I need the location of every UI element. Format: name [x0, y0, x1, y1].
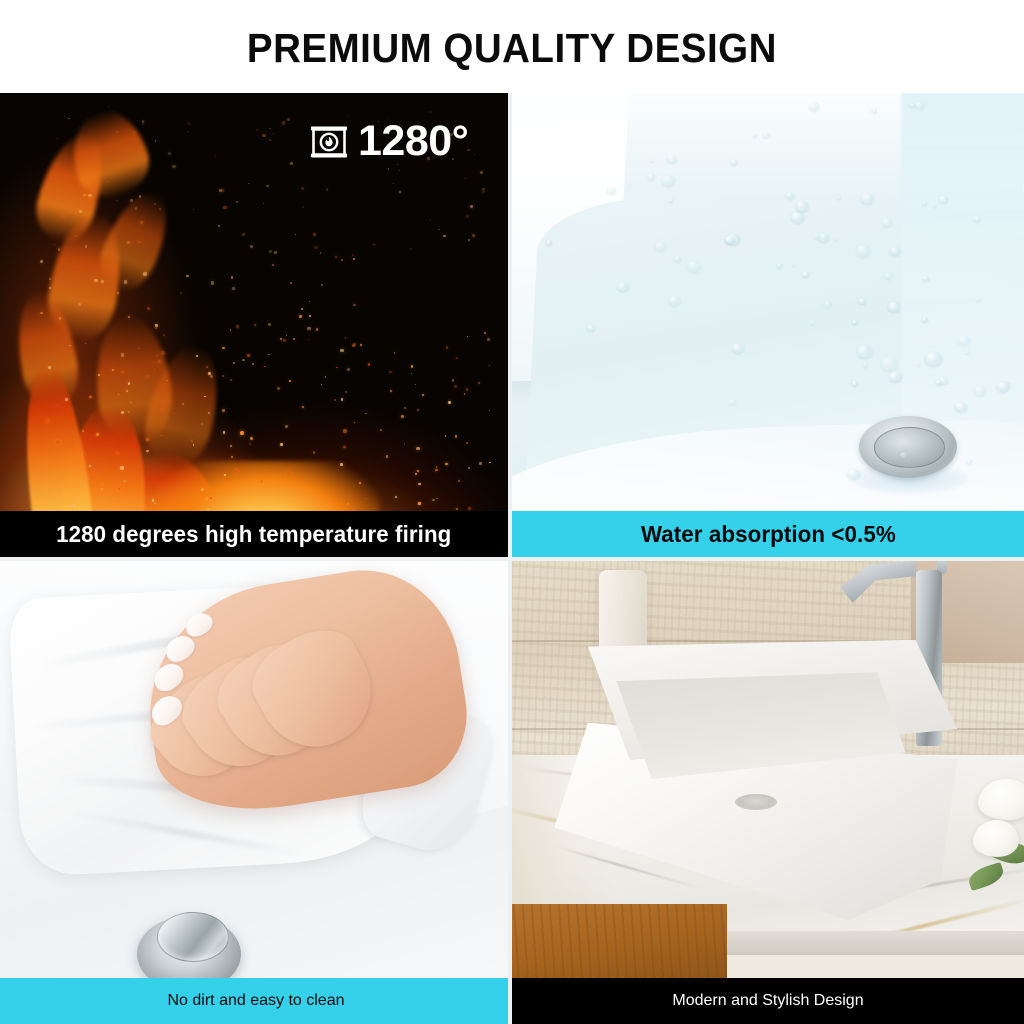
spark — [411, 365, 413, 367]
water-droplet — [753, 134, 757, 137]
caption-text-firing: 1280 degrees high temperature firing — [56, 521, 451, 548]
spark — [307, 327, 310, 330]
spark — [124, 480, 125, 481]
temperature-badge: 1280° — [309, 120, 468, 163]
water-droplet — [889, 371, 902, 382]
spark — [155, 324, 158, 327]
spark — [373, 244, 375, 246]
water-droplet — [810, 320, 815, 324]
spark — [85, 343, 86, 344]
spark — [268, 323, 271, 326]
water-droplet — [974, 386, 986, 395]
spark — [454, 385, 457, 388]
cleaning-photo — [0, 561, 508, 1024]
spark — [49, 278, 51, 280]
spark — [456, 357, 458, 359]
spark — [155, 327, 157, 329]
water-droplet — [966, 459, 972, 464]
caption-bar-clean: No dirt and easy to clean — [0, 978, 508, 1024]
spark — [101, 280, 104, 283]
vessel-sink — [538, 640, 958, 936]
spark — [468, 507, 471, 510]
spark — [56, 440, 59, 443]
spark — [231, 276, 233, 278]
water-droplet — [890, 247, 901, 256]
spark — [211, 281, 214, 284]
caption-bar-design: Modern and Stylish Design — [512, 978, 1024, 1024]
water-droplet — [667, 155, 677, 163]
spark — [172, 165, 175, 168]
spark — [321, 284, 323, 286]
caption-bar-absorption: Water absorption <0.5% — [512, 511, 1024, 557]
spark — [126, 390, 128, 392]
spark — [274, 251, 277, 254]
spark — [343, 429, 346, 432]
spark — [78, 303, 81, 306]
drain-stopper-cap — [157, 912, 229, 962]
spark — [146, 438, 149, 441]
spark — [159, 208, 161, 210]
water-droplet — [777, 263, 783, 268]
water-droplet — [725, 236, 735, 244]
spark — [272, 264, 274, 266]
spark — [58, 248, 60, 250]
spark — [345, 391, 347, 393]
spark — [263, 203, 264, 204]
spark — [380, 429, 382, 431]
spark — [48, 366, 51, 369]
water-droplet — [882, 218, 892, 227]
spark — [138, 348, 139, 349]
spark — [466, 442, 468, 444]
water-droplet — [835, 238, 838, 241]
spark — [188, 122, 190, 124]
spark — [68, 118, 70, 120]
spark — [302, 406, 304, 408]
caption-text-clean: No dirt and easy to clean — [168, 992, 345, 1010]
water-droplet — [587, 325, 594, 331]
spark — [313, 233, 316, 236]
spark — [41, 189, 44, 192]
spark — [273, 133, 274, 134]
spark — [302, 206, 304, 208]
spark — [83, 453, 86, 456]
spark — [61, 215, 65, 219]
spark — [386, 455, 388, 457]
spark — [57, 405, 58, 406]
spark — [138, 241, 140, 243]
spark — [128, 382, 131, 385]
kiln-furnace-icon — [309, 122, 349, 162]
spark — [127, 241, 130, 244]
spark — [121, 411, 124, 414]
spark — [336, 367, 337, 368]
spark — [290, 282, 292, 284]
spark — [75, 235, 77, 237]
water-basin-photo — [512, 93, 1024, 557]
spark — [266, 185, 268, 187]
spark — [240, 431, 244, 435]
spark — [79, 210, 82, 213]
spark — [186, 275, 188, 277]
spark — [466, 215, 468, 217]
spark — [191, 440, 193, 442]
product-infographic: PREMIUM QUALITY DESIGN — [0, 0, 1024, 1024]
chrome-drain — [859, 416, 957, 478]
spark — [205, 497, 208, 500]
spark — [49, 287, 50, 288]
spark — [94, 279, 98, 283]
spark — [417, 409, 418, 410]
spark — [40, 260, 43, 263]
white-flower — [973, 820, 1019, 857]
spark — [393, 183, 394, 184]
spark — [389, 371, 391, 373]
spark — [69, 345, 71, 347]
spark — [147, 307, 150, 310]
spark — [283, 339, 286, 342]
water-droplet — [922, 317, 928, 322]
spark — [285, 425, 288, 428]
spark — [210, 375, 213, 378]
spark — [235, 469, 238, 472]
panel-easy-to-clean: No dirt and easy to clean — [0, 561, 508, 1024]
spark — [161, 351, 165, 355]
spark — [154, 203, 156, 205]
water-droplet — [939, 196, 947, 203]
spark — [223, 431, 225, 433]
spark — [142, 120, 145, 123]
spark — [293, 338, 295, 340]
spark — [121, 371, 124, 374]
water-droplet — [922, 201, 927, 205]
spark — [316, 328, 318, 330]
spark — [445, 463, 448, 466]
water-droplet — [852, 381, 858, 386]
spark — [435, 469, 437, 471]
spark — [299, 315, 302, 318]
spark — [458, 480, 460, 482]
water-droplet — [955, 402, 967, 412]
spark — [445, 435, 447, 437]
spark — [282, 121, 285, 124]
header-banner: PREMIUM QUALITY DESIGN — [0, 0, 1024, 93]
spark — [480, 171, 483, 174]
sink-drain-hole — [735, 794, 777, 810]
spark — [180, 292, 182, 294]
spark — [156, 355, 157, 356]
spark — [394, 352, 395, 353]
water-droplet — [925, 352, 942, 366]
spark — [448, 401, 451, 404]
water-droplet — [669, 296, 681, 306]
spark — [47, 483, 49, 485]
water-droplet — [910, 104, 914, 107]
spark — [401, 415, 404, 418]
spark — [418, 502, 421, 505]
water-droplet — [809, 102, 820, 111]
spark — [188, 131, 189, 132]
page-title: PREMIUM QUALITY DESIGN — [247, 24, 777, 69]
spark — [455, 435, 457, 437]
spark — [158, 360, 161, 363]
spark — [102, 484, 103, 485]
caption-text-design: Modern and Stylish Design — [672, 992, 863, 1010]
spark — [88, 194, 91, 197]
water-droplet — [607, 187, 615, 194]
water-droplet — [791, 212, 804, 222]
spark — [353, 258, 355, 260]
spark — [313, 451, 315, 453]
caption-bar-firing: 1280 degrees high temperature firing — [0, 511, 508, 557]
spark — [65, 398, 68, 401]
water-droplet — [872, 108, 878, 113]
spark — [224, 474, 226, 476]
spark — [218, 225, 220, 227]
spark — [353, 343, 356, 346]
spark — [143, 272, 146, 275]
vanity-photo — [512, 561, 1024, 1024]
water-droplet — [655, 242, 666, 251]
spark — [484, 332, 486, 334]
spark — [146, 375, 149, 378]
spark — [120, 466, 123, 469]
spark — [236, 201, 238, 203]
water-droplet — [792, 263, 795, 266]
spark — [430, 111, 432, 113]
spark — [353, 304, 356, 307]
spark — [301, 187, 304, 190]
spark — [196, 355, 198, 357]
spark — [117, 292, 119, 294]
water-droplet — [796, 201, 809, 211]
spark — [404, 407, 406, 409]
spark — [309, 315, 311, 317]
spark — [112, 369, 114, 371]
spark — [410, 248, 412, 250]
temperature-value: 1280° — [358, 120, 468, 163]
spark — [130, 402, 132, 404]
spark — [341, 259, 343, 261]
spark — [404, 443, 405, 444]
spark — [468, 239, 470, 241]
spark — [140, 221, 143, 224]
water-droplet — [662, 175, 675, 186]
water-droplet — [958, 336, 970, 346]
panel-high-temperature-firing: 1280° 1280 degrees high temperature firi… — [0, 93, 508, 557]
spark — [168, 152, 171, 155]
spark — [222, 347, 224, 349]
water-droplet — [650, 159, 654, 162]
panel-modern-stylish-design: Modern and Stylish Design — [512, 561, 1024, 1024]
spark — [163, 334, 165, 336]
spark — [418, 483, 420, 485]
spark — [489, 462, 490, 463]
water-droplet — [917, 363, 920, 366]
water-droplet — [858, 298, 866, 304]
spark — [130, 199, 133, 202]
spark — [269, 139, 271, 141]
panel-water-absorption: Water absorption <0.5% — [512, 93, 1024, 557]
spark — [264, 366, 265, 367]
spark — [146, 450, 148, 452]
water-droplet — [824, 301, 832, 307]
spark — [256, 129, 258, 131]
spark — [472, 234, 475, 237]
caption-text-absorption: Water absorption <0.5% — [641, 521, 896, 548]
spark — [262, 134, 265, 137]
spark — [340, 349, 343, 352]
spark — [474, 154, 475, 155]
spark — [289, 380, 292, 383]
spark — [347, 368, 350, 371]
spark — [208, 412, 210, 414]
water-droplet — [861, 193, 874, 203]
water-droplet — [900, 452, 907, 458]
feature-grid: 1280° 1280 degrees high temperature firi… — [0, 93, 1024, 1024]
spark — [236, 325, 239, 328]
spark — [222, 409, 225, 412]
spark — [436, 498, 437, 499]
